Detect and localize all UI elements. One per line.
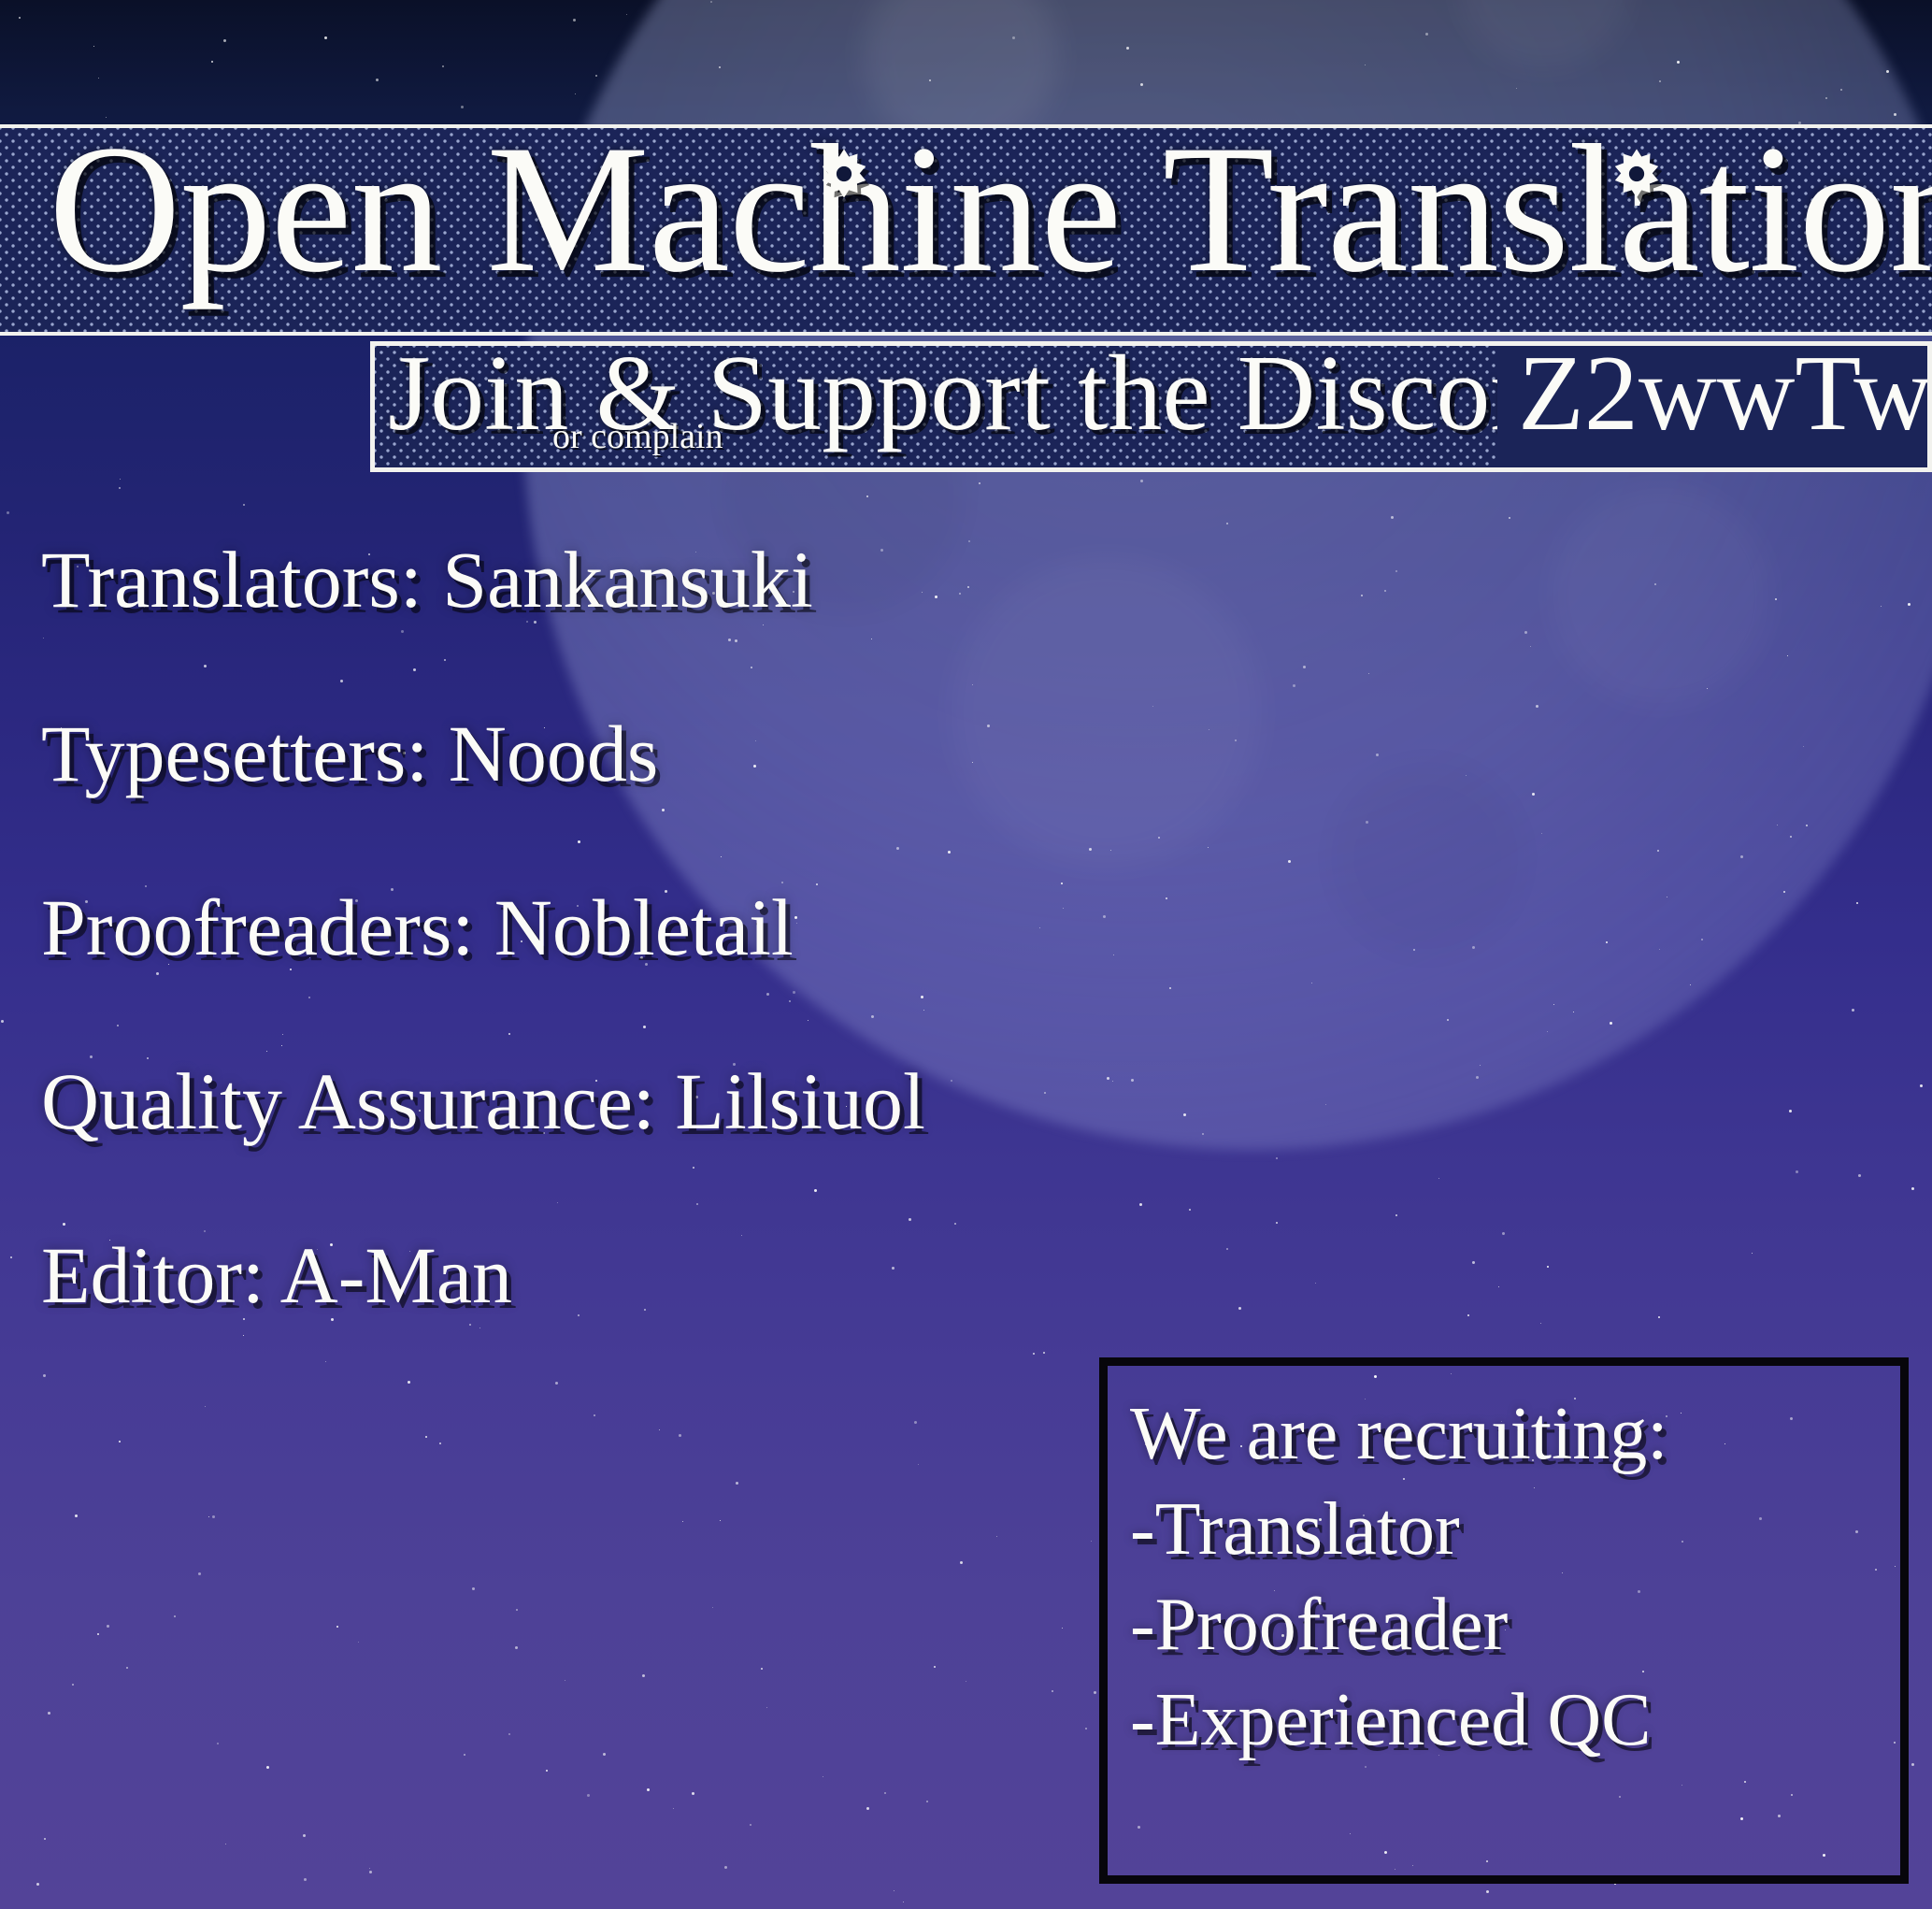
credit-line-typesetters: Typesetters: Noods <box>41 707 1350 800</box>
recruiting-heading: We are recruiting: <box>1130 1386 1900 1482</box>
gear-icon <box>1610 147 1664 201</box>
credit-line-quality-assurance: Quality Assurance: Lilsiuol <box>41 1055 1350 1148</box>
discord-footnote: or complain <box>552 418 723 455</box>
recruiting-item-translator: -Translator <box>1130 1482 1900 1577</box>
recruiting-item-experienced-qc: -Experienced QC <box>1130 1672 1900 1768</box>
recruiting-item-proofreader: -Proofreader <box>1130 1577 1900 1672</box>
credits-page: Open Machine Translations Join & Support… <box>0 0 1932 1909</box>
credit-line-editor: Editor: A-Man <box>41 1228 1350 1322</box>
credits-list: Translators: Sankansuki Typesetters: Noo… <box>41 533 1350 1402</box>
gear-icon <box>817 147 871 201</box>
discord-invite-code: Z2wwTwz <box>1518 346 1927 459</box>
credit-line-proofreaders: Proofreaders: Nobletail <box>41 881 1350 974</box>
title-banner: Open Machine Translations <box>0 124 1932 336</box>
recruiting-box: We are recruiting: -Translator -Proofrea… <box>1099 1357 1909 1884</box>
discord-code-box[interactable]: Z2wwTwz <box>1497 346 1927 467</box>
credit-line-translators: Translators: Sankansuki <box>41 533 1350 626</box>
